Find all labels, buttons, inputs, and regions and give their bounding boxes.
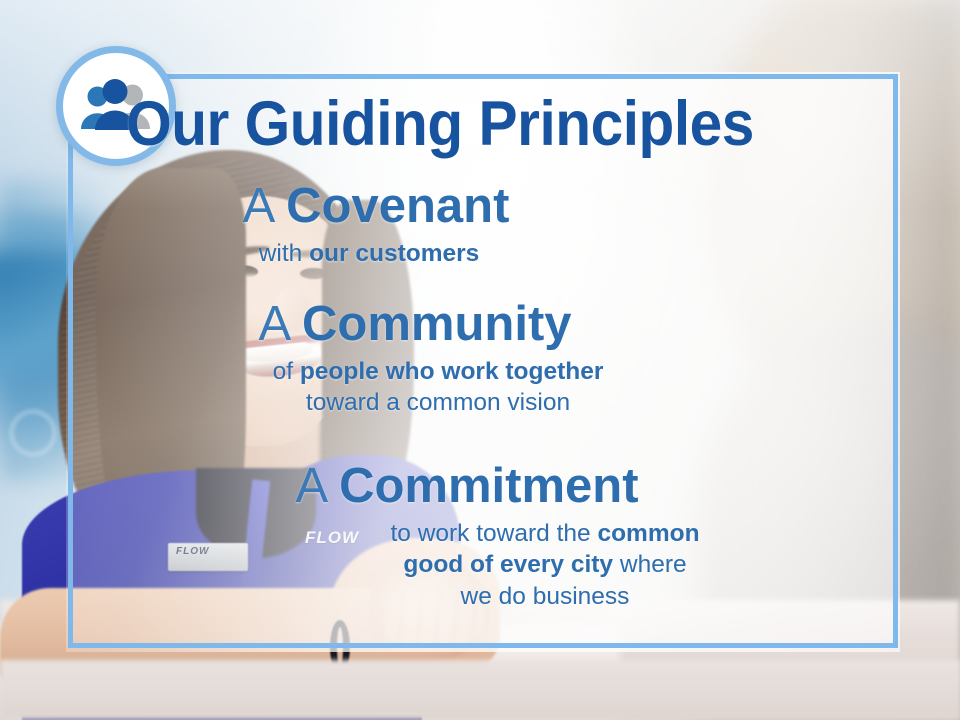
window-pane [430, 0, 550, 300]
car-emblem-icon [10, 410, 56, 456]
desk-front-edge [0, 660, 960, 720]
subject-fingers [385, 590, 485, 650]
people-group-icon [56, 46, 176, 166]
name-badge-text: FLOW [176, 546, 238, 557]
subject-nose [276, 288, 310, 332]
